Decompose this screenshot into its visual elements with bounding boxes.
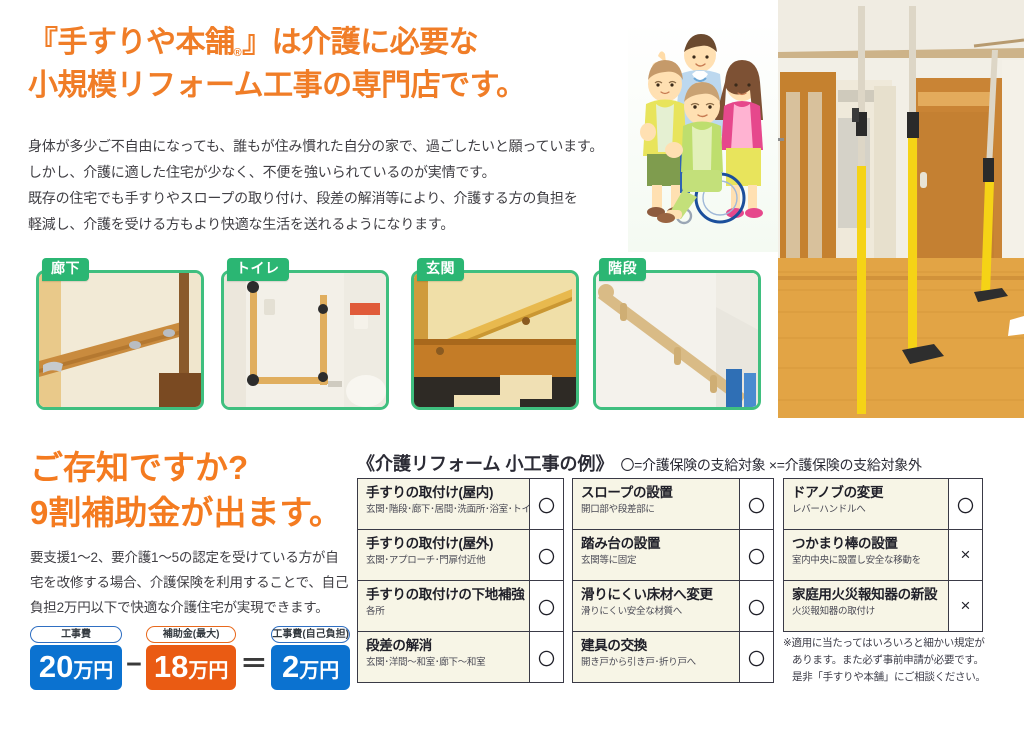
thumbnail-photo-stairs	[593, 270, 761, 410]
table-row: 手すりの取付けの下地補強 各所 〇	[357, 580, 564, 632]
cost-box-value-construction: 20万円	[30, 645, 122, 690]
table-cell-sub: 玄関･洋間〜和室･廊下〜和室	[366, 657, 524, 668]
photo-gallery: 廊下 トイレ 玄関 階段	[30, 258, 772, 416]
table-row: 建具の交換 開き戸から引き戸･折り戸へ 〇	[572, 631, 774, 683]
table-cell-title: スロープの設置	[581, 485, 734, 501]
table-cell-mark: 〇	[739, 632, 773, 682]
headline-line1-pre: 『手すりや本舗	[28, 26, 235, 59]
cost-amount-subsidy: 18	[154, 649, 188, 684]
table-row: 段差の解消 玄関･洋間〜和室･廊下〜和室 〇	[357, 631, 564, 683]
table-cell-mark: 〇	[739, 530, 773, 580]
table-cell-sub: 火災報知器の取付け	[792, 606, 943, 617]
thumbnail-photo-toilet	[221, 270, 389, 410]
table-cell-text: 滑りにくい床材へ変更 滑りにくい安全な材質へ	[573, 581, 739, 631]
examples-column-1: 手すりの取付け(屋内) 玄関･階段･廊下･居間･洗面所･浴室･トイレ他 〇 手す…	[357, 478, 564, 682]
table-cell-sub: 各所	[366, 606, 524, 617]
table-cell-sub: 室内中央に設置し安全な移動を	[792, 555, 943, 566]
registered-trademark-icon: ®	[234, 47, 242, 59]
table-row: ドアノブの変更 レバーハンドルへ 〇	[783, 478, 983, 530]
table-cell-text: ドアノブの変更 レバーハンドルへ	[784, 479, 948, 529]
table-row: 家庭用火災報知器の新設 火災報知器の取付け ×	[783, 580, 983, 632]
page-title: 『手すりや本舗®』は介護に必要な 小規模リフォーム工事の専門店です。	[28, 22, 648, 107]
table-cell-title: 手すりの取付け(屋内)	[366, 485, 524, 501]
cost-box-value-subsidy: 18万円	[146, 645, 236, 690]
table-cell-title: ドアノブの変更	[792, 485, 943, 501]
cost-box-caption-construction: 工事費	[30, 626, 122, 643]
table-cell-mark: 〇	[529, 530, 563, 580]
table-cell-sub: レバーハンドルへ	[792, 504, 943, 515]
table-cell-mark: 〇	[529, 581, 563, 631]
table-row: 滑りにくい床材へ変更 滑りにくい安全な材質へ 〇	[572, 580, 774, 632]
table-cell-mark: ×	[948, 530, 982, 580]
table-footnote: ※適用に当たってはいろいろと細かい規定が あります。また必ず事前申請が必要です。…	[783, 635, 987, 686]
table-cell-sub: 滑りにくい安全な材質へ	[581, 606, 734, 617]
cost-box-value-self-pay: 2万円	[271, 645, 350, 690]
table-cell-text: 段差の解消 玄関･洋間〜和室･廊下〜和室	[358, 632, 529, 682]
examples-table-heading: 《介護リフォーム 小工事の例》〇=介護保険の支給対象 ×=介護保険の支給対象外	[357, 450, 922, 476]
table-cell-text: 手すりの取付け(屋外) 玄関･アプローチ･門扉付近他	[358, 530, 529, 580]
thumbnail-label-entrance: 玄関	[417, 258, 464, 281]
main-room-photo	[778, 0, 1024, 418]
examples-column-3: ドアノブの変更 レバーハンドルへ 〇 つかまり棒の設置 室内中央に設置し安全な移…	[783, 478, 983, 631]
table-cell-text: 家庭用火災報知器の新設 火災報知器の取付け	[784, 581, 948, 631]
promo-heading: ご存知ですか? 9割補助金が出ます。	[30, 446, 360, 536]
table-row: 手すりの取付け(屋外) 玄関･アプローチ･門扉付近他 〇	[357, 529, 564, 581]
table-cell-mark: 〇	[529, 632, 563, 682]
table-cell-title: 家庭用火災報知器の新設	[792, 587, 943, 603]
cost-box-construction: 工事費 20万円	[30, 626, 122, 690]
table-cell-title: 踏み台の設置	[581, 536, 734, 552]
cost-box-self-pay: 工事費(自己負担) 2万円	[271, 626, 350, 690]
table-cell-sub: 開口部や段差部に	[581, 504, 734, 515]
brochure-page: 『手すりや本舗®』は介護に必要な 小規模リフォーム工事の専門店です。 身体が多少…	[0, 0, 1024, 745]
thumbnail-photo-hallway	[36, 270, 204, 410]
operator-equals: ＝	[236, 651, 271, 690]
headline-line1-post: 』は介護に必要な	[242, 26, 478, 59]
table-cell-text: 手すりの取付け(屋内) 玄関･階段･廊下･居間･洗面所･浴室･トイレ他	[358, 479, 529, 529]
table-cell-mark: 〇	[948, 479, 982, 529]
thumbnail-label-stairs: 階段	[599, 258, 646, 281]
cost-unit-subsidy: 万円	[188, 660, 228, 682]
table-cell-sub: 玄関等に固定	[581, 555, 734, 566]
table-cell-text: つかまり棒の設置 室内中央に設置し安全な移動を	[784, 530, 948, 580]
table-cell-text: 手すりの取付けの下地補強 各所	[358, 581, 529, 631]
table-cell-title: 手すりの取付け(屋外)	[366, 536, 524, 552]
promo-heading-line-2: 9割補助金が出ます。	[30, 491, 360, 536]
cost-box-caption-self-pay: 工事費(自己負担)	[271, 626, 350, 643]
thumbnail-label-hallway: 廊下	[42, 258, 89, 281]
table-cell-sub: 玄関･階段･廊下･居間･洗面所･浴室･トイレ他	[366, 504, 524, 515]
table-cell-text: 踏み台の設置 玄関等に固定	[573, 530, 739, 580]
footnote-line-2: あります。また必ず事前申請が必要です。	[783, 652, 987, 669]
promo-body-line-2: 宅を改修する場合、介護保険を利用することで、自己	[30, 570, 350, 595]
table-row: 踏み台の設置 玄関等に固定 〇	[572, 529, 774, 581]
table-row: スロープの設置 開口部や段差部に 〇	[572, 478, 774, 530]
cost-amount-construction: 20	[39, 649, 73, 684]
footnote-line-3: 是非「手すりや本舗」にご相談ください。	[783, 669, 987, 686]
footnote-line-1: ※適用に当たってはいろいろと細かい規定が	[783, 635, 987, 652]
examples-table-title: 《介護リフォーム 小工事の例》	[357, 454, 613, 474]
lead-line-2: しかし、介護に適した住宅が少なく、不便を強いられているのが実情です。	[28, 159, 638, 185]
operator-minus: −	[122, 651, 146, 690]
cost-unit-self-pay: 万円	[299, 660, 339, 682]
lead-line-3: 既存の住宅でも手すりやスロープの取り付け、段差の解消等により、介護する方の負担を	[28, 185, 638, 211]
promo-body-line-1: 要支援1〜2、要介護1〜5の認定を受けている方が自	[30, 545, 350, 570]
table-cell-sub: 玄関･アプローチ･門扉付近他	[366, 555, 524, 566]
table-cell-title: つかまり棒の設置	[792, 536, 943, 552]
table-cell-mark: ×	[948, 581, 982, 631]
cost-unit-construction: 万円	[73, 660, 113, 682]
cost-box-subsidy: 補助金(最大) 18万円	[146, 626, 236, 690]
table-cell-mark: 〇	[529, 479, 563, 529]
table-cell-mark: 〇	[739, 581, 773, 631]
examples-table-legend: 〇=介護保険の支給対象 ×=介護保険の支給対象外	[620, 457, 921, 473]
table-row: つかまり棒の設置 室内中央に設置し安全な移動を ×	[783, 529, 983, 581]
examples-column-2: スロープの設置 開口部や段差部に 〇 踏み台の設置 玄関等に固定 〇 滑りにくい…	[572, 478, 774, 682]
cost-amount-self-pay: 2	[282, 649, 299, 684]
table-cell-text: 建具の交換 開き戸から引き戸･折り戸へ	[573, 632, 739, 682]
table-cell-title: 手すりの取付けの下地補強	[366, 587, 524, 603]
examples-table: 手すりの取付け(屋内) 玄関･階段･廊下･居間･洗面所･浴室･トイレ他 〇 手す…	[357, 478, 1012, 688]
thumbnail-label-toilet: トイレ	[227, 258, 289, 281]
lead-line-1: 身体が多少ご不自由になっても、誰もが住み慣れた自分の家で、過ごしたいと願っていま…	[28, 133, 638, 159]
table-row: 手すりの取付け(屋内) 玄関･階段･廊下･居間･洗面所･浴室･トイレ他 〇	[357, 478, 564, 530]
lead-paragraph: 身体が多少ご不自由になっても、誰もが住み慣れた自分の家で、過ごしたいと願っていま…	[28, 133, 638, 237]
thumbnail-photo-entrance	[411, 270, 579, 410]
family-illustration	[628, 22, 780, 252]
cost-box-caption-subsidy: 補助金(最大)	[146, 626, 236, 643]
table-cell-title: 滑りにくい床材へ変更	[581, 587, 734, 603]
headline-line2: 小規模リフォーム工事の専門店です。	[28, 65, 648, 108]
table-cell-title: 段差の解消	[366, 638, 524, 654]
lead-line-4: 軽減し、介護を受ける方もより快適な生活を送れるようになります。	[28, 211, 638, 237]
promo-body-line-3: 負担2万円以下で快適な介護住宅が実現できます。	[30, 595, 350, 620]
table-cell-mark: 〇	[739, 479, 773, 529]
promo-heading-line-1: ご存知ですか?	[30, 446, 360, 491]
promo-description: 要支援1〜2、要介護1〜5の認定を受けている方が自 宅を改修する場合、介護保険を…	[30, 545, 350, 620]
cost-equation: 工事費 20万円 − 補助金(最大) 18万円 ＝ 工事費(自己負担) 2万円	[30, 624, 350, 690]
table-cell-sub: 開き戸から引き戸･折り戸へ	[581, 657, 734, 668]
table-cell-text: スロープの設置 開口部や段差部に	[573, 479, 739, 529]
table-cell-title: 建具の交換	[581, 638, 734, 654]
